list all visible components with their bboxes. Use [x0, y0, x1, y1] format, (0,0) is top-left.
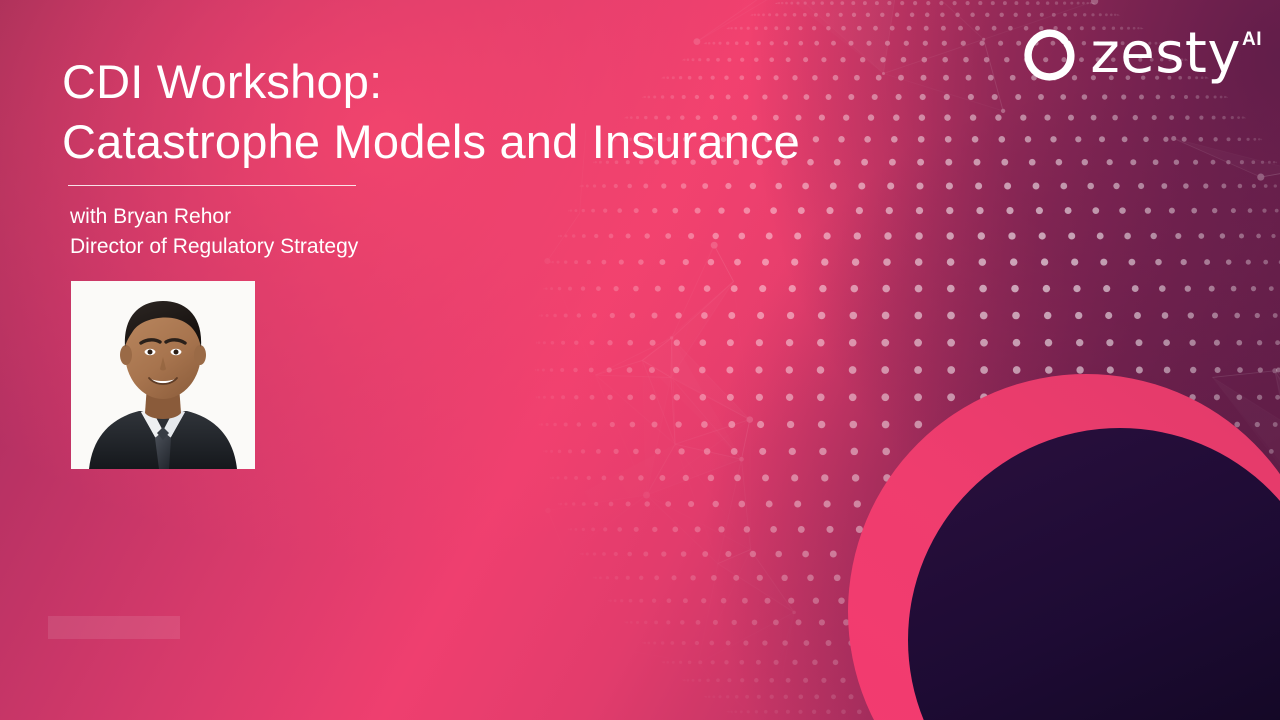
speaker-headshot — [71, 281, 255, 469]
page-title: CDI Workshop: Catastrophe Models and Ins… — [62, 52, 800, 172]
logo-word-text: zesty — [1090, 27, 1241, 81]
zesty-open-ring-icon — [1024, 29, 1076, 81]
redacted-placeholder-bar — [48, 616, 180, 639]
title-slide: zesty AI CDI Workshop: Catastrophe Model… — [0, 0, 1280, 720]
speaker-role-line: Director of Regulatory Strategy — [70, 232, 358, 262]
zesty-crescent-brandmark — [820, 350, 1280, 720]
title-line-2: Catastrophe Models and Insurance — [62, 112, 800, 172]
title-divider-rule — [68, 185, 356, 186]
zesty-wordmark: zesty AI — [1090, 27, 1262, 81]
speaker-name-line: with Bryan Rehor — [70, 202, 358, 232]
logo-ai-superscript: AI — [1242, 29, 1262, 51]
zesty-ai-logo[interactable]: zesty AI — [1024, 27, 1262, 81]
speaker-credit: with Bryan Rehor Director of Regulatory … — [70, 202, 358, 262]
title-line-1: CDI Workshop: — [62, 52, 800, 112]
